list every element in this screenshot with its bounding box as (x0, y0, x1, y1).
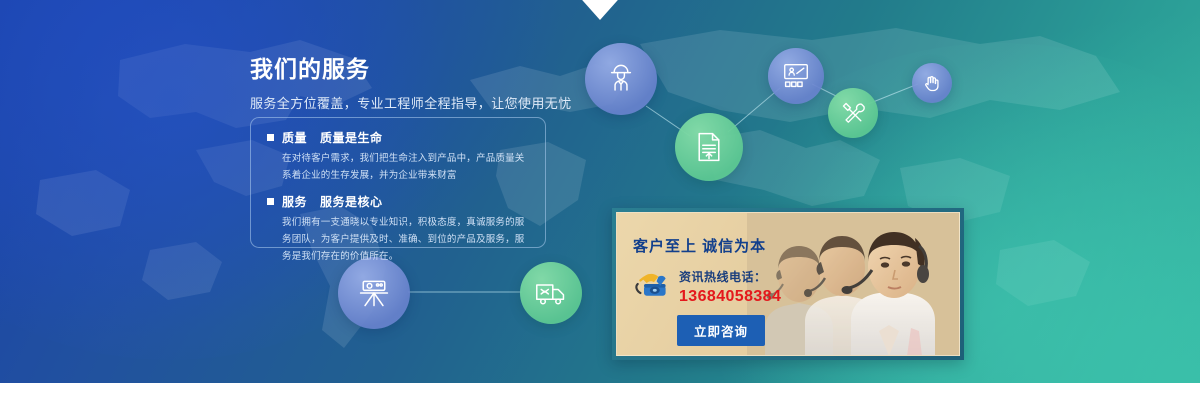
node-survey-tripod[interactable] (338, 257, 410, 329)
page-title: 我们的服务 (250, 55, 550, 84)
promo-slogan: 客户至上 诚信为本 (633, 235, 781, 256)
service-item-title: 质量是生命 (320, 129, 383, 146)
promo-text-group: 客户至上 诚信为本 (633, 235, 781, 346)
chevron-down-icon (578, 0, 622, 20)
hotline-number: 13684058384 (679, 288, 781, 306)
service-heading-group: 我们的服务 服务全方位覆盖，专业工程师全程指导，让您使用无忧 (250, 55, 550, 112)
contact-promo-banner[interactable]: 客户至上 诚信为本 (612, 208, 964, 360)
chevron-down-notch (578, 0, 622, 20)
hotline-lines: 资讯热线电话： 13684058384 (679, 266, 781, 306)
telephone-icon (633, 266, 673, 302)
tools-wrench-icon (840, 100, 866, 126)
service-item-body: 我们拥有一支通晓以专业知识，积极态度，真诚服务的服务团队，为客户提供及时、准确、… (267, 215, 531, 265)
service-item-quality: 质量 质量是生命 在对待客户需求，我们把生命注入到产品中，产品质量关系着企业的生… (267, 129, 531, 184)
service-item-tag: 质量 (282, 129, 307, 146)
service-section: 我们的服务 服务全方位覆盖，专业工程师全程指导，让您使用无忧 质量 质量是生命 … (0, 0, 1200, 400)
document-upload-icon (694, 131, 724, 163)
square-bullet-icon (267, 198, 274, 205)
node-handshake-gesture[interactable] (912, 63, 952, 103)
node-engineer-hardhat[interactable] (585, 43, 657, 115)
service-item-tag: 服务 (282, 193, 307, 210)
service-detail-card: 质量 质量是生命 在对待客户需求，我们把生命注入到产品中，产品质量关系着企业的生… (250, 117, 546, 248)
node-delivery-truck[interactable] (520, 262, 582, 324)
survey-tripod-icon (357, 276, 391, 310)
handshake-gesture-icon (922, 73, 943, 94)
service-item-service: 服务 服务是核心 我们拥有一支通晓以专业知识，积极态度，真诚服务的服务团队，为客… (267, 193, 531, 265)
service-item-heading: 质量 质量是生命 (267, 129, 531, 146)
node-document-upload[interactable] (675, 113, 743, 181)
node-tools-maintenance[interactable] (828, 88, 878, 138)
hotline-row: 资讯热线电话： 13684058384 (633, 266, 781, 306)
training-board-icon (782, 63, 810, 89)
engineer-hardhat-icon (604, 62, 638, 96)
delivery-truck-icon (535, 279, 567, 307)
square-bullet-icon (267, 134, 274, 141)
page-subtitle: 服务全方位覆盖，专业工程师全程指导，让您使用无忧 (250, 93, 550, 112)
gradient-background: 我们的服务 服务全方位覆盖，专业工程师全程指导，让您使用无忧 质量 质量是生命 … (0, 0, 1200, 383)
service-item-body: 在对待客户需求，我们把生命注入到产品中，产品质量关系着企业的生存发展，并为企业带… (267, 151, 531, 184)
contact-promo-inner: 客户至上 诚信为本 (616, 212, 960, 356)
hotline-label: 资讯热线电话： (679, 270, 767, 284)
service-item-heading: 服务 服务是核心 (267, 193, 531, 210)
consult-now-button[interactable]: 立即咨询 (677, 315, 765, 346)
node-training-board[interactable] (768, 48, 824, 104)
service-item-title: 服务是核心 (320, 193, 383, 210)
